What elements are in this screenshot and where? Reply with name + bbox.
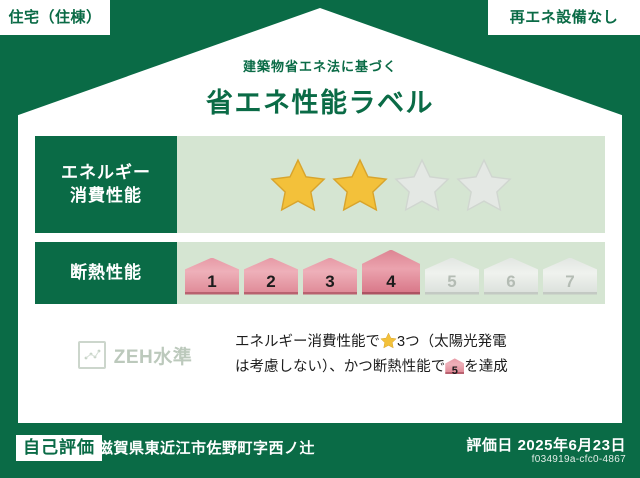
insulation-level-badge: 4 — [362, 250, 420, 295]
insulation-level-badge-num: 2 — [266, 273, 275, 295]
star-empty-icon — [394, 157, 450, 213]
energy-performance-label: 住宅（住棟） 再エネ設備なし 建築物省エネ法に基づく 省エネ性能ラベル エネルギ… — [0, 0, 640, 478]
star-filled-icon — [270, 157, 326, 213]
zeh-standard-label: ZEH水準 — [114, 342, 193, 369]
self-evaluation-badge: 自己評価 — [16, 435, 102, 461]
insulation-performance-row: 断熱性能 1234567 — [35, 242, 605, 304]
energy-consumption-label: エネルギー 消費性能 — [35, 136, 177, 233]
star-rating — [270, 157, 512, 213]
zeh-note-star-count: 3つ（太陽光発電 — [397, 334, 507, 350]
zeh-note: ZEH水準 エネルギー消費性能で3つ（太陽光発電は考慮しない）、かつ断熱性能で5… — [35, 330, 605, 381]
evaluation-date: 評価日 2025年6月23日 — [466, 434, 626, 455]
insulation-level-badge: 5 — [425, 258, 479, 295]
insulation-performance-label: 断熱性能 — [35, 242, 177, 304]
chart-icon — [78, 341, 106, 369]
insulation-level-badge: 7 — [543, 258, 597, 295]
insulation-level-badge-num: 5 — [447, 273, 456, 295]
renewable-energy-label: 再エネ設備なし — [510, 10, 619, 25]
insulation-level-badge-num: 7 — [565, 273, 574, 295]
energy-consumption-value — [177, 136, 605, 233]
rating-rows: エネルギー 消費性能 断熱性能 1234567 — [35, 136, 605, 313]
zeh-note-part1: エネルギー消費性能で — [235, 334, 380, 350]
evaluation-id: f034919a-cfc0-4867 — [532, 454, 626, 465]
insulation-level-badge: 6 — [484, 258, 538, 295]
insulation-level-badge: 3 — [303, 258, 357, 295]
renewable-energy-tab: 再エネ設備なし — [488, 0, 640, 35]
energy-consumption-label-line1: エネルギー — [61, 162, 151, 185]
building-type-label: 住宅（住棟） — [8, 10, 101, 25]
star-empty-icon — [456, 157, 512, 213]
insulation-level-badge: 2 — [244, 258, 298, 295]
zeh-note-part2: は考慮しない）、かつ断熱性能で — [235, 359, 445, 375]
insulation-level-badges: 1234567 — [185, 250, 597, 297]
insulation-level-badge-num: 1 — [207, 273, 216, 295]
star-filled-icon — [332, 157, 388, 213]
insulation-performance-label-line1: 断熱性能 — [70, 262, 142, 285]
insulation-level-badge: 1 — [185, 258, 239, 295]
zeh-standard-mark: ZEH水準 — [35, 341, 235, 369]
insulation-level-badge-num: 3 — [325, 273, 334, 295]
property-address: 滋賀県東近江市佐野町字西ノ辻 — [98, 437, 315, 458]
title-subtitle: 建築物省エネ法に基づく — [0, 56, 640, 75]
insulation-performance-value: 1234567 — [177, 242, 605, 304]
energy-consumption-row: エネルギー 消費性能 — [35, 136, 605, 233]
footer: 自己評価 滋賀県東近江市佐野町字西ノ辻 評価日 2025年6月23日 f0349… — [0, 423, 640, 478]
zeh-note-text: エネルギー消費性能で3つ（太陽光発電は考慮しない）、かつ断熱性能で5を達成 — [235, 330, 605, 381]
inline-level-badge-num: 5 — [452, 365, 458, 377]
insulation-level-badge-num: 4 — [386, 273, 395, 295]
page-title: 省エネ性能ラベル — [0, 81, 640, 120]
energy-consumption-label-line2: 消費性能 — [70, 185, 142, 208]
building-type-tab: 住宅（住棟） — [0, 0, 110, 35]
insulation-level-badge-num: 6 — [506, 273, 515, 295]
title-block: 建築物省エネ法に基づく 省エネ性能ラベル — [0, 56, 640, 120]
inline-star-icon — [380, 332, 397, 349]
inline-level-badge: 5 — [445, 358, 464, 374]
zeh-note-part3: を達成 — [464, 359, 508, 375]
